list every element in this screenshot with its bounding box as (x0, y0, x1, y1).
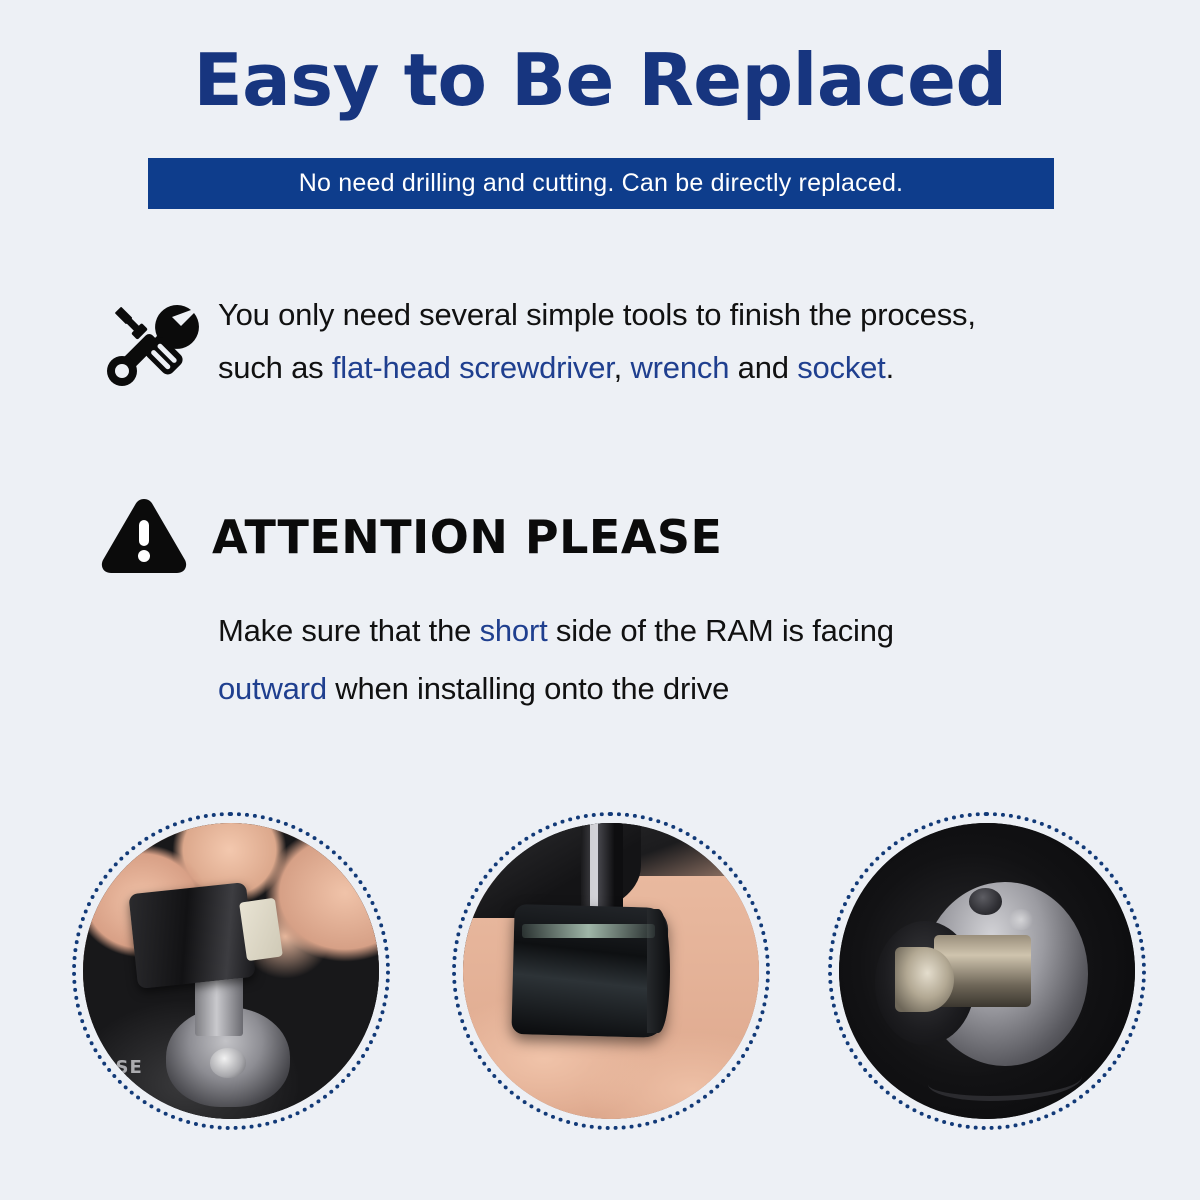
tools-text-line-2: such as flat-head screwdriver, wrench an… (218, 341, 976, 394)
photo-3-bolt (969, 888, 1002, 915)
attention-highlight-short: short (480, 613, 548, 648)
photo-1-bolt (210, 1048, 246, 1078)
warning-triangle-icon (98, 495, 190, 579)
attention-body-line-2: outward when installing onto the drive (218, 660, 1118, 718)
wrench-screwdriver-icon (96, 292, 200, 392)
photo-1-black-cap (129, 882, 257, 989)
tools-text-block: You only need several simple tools to fi… (218, 288, 976, 394)
photo-hand-installing-cap: SE (72, 812, 390, 1130)
tools-line2-sep1: , (614, 350, 631, 385)
photo-2-image (463, 823, 759, 1119)
attention-heading-row: ATTENTION PLEASE (98, 495, 722, 579)
tools-line1-text: You only need several simple tools to fi… (218, 297, 976, 332)
attention-line2-suffix: when installing onto the drive (327, 671, 729, 706)
photo-installed-shaft-assembly (828, 812, 1146, 1130)
attention-line1-suffix: side of the RAM is facing (547, 613, 893, 648)
page-title: Easy to Be Replaced (0, 0, 1200, 116)
tools-highlight-wrench: wrench (631, 350, 730, 385)
photo-1-logo-text: SE (116, 1057, 143, 1078)
attention-heading: ATTENTION PLEASE (212, 510, 722, 564)
attention-line1-prefix: Make sure that the (218, 613, 480, 648)
attention-body: Make sure that the short side of the RAM… (218, 602, 1118, 718)
tools-section: You only need several simple tools to fi… (96, 288, 1106, 394)
tools-line2-suffix: . (886, 350, 894, 385)
photo-3-glint (1008, 909, 1035, 930)
photo-2-cylinder-sheen (522, 924, 655, 939)
tools-text-line-1: You only need several simple tools to fi… (218, 288, 976, 341)
photo-1-image: SE (83, 823, 379, 1119)
attention-body-line-1: Make sure that the short side of the RAM… (218, 602, 1118, 660)
tools-highlight-screwdriver: flat-head screwdriver (332, 350, 614, 385)
photo-3-image (839, 823, 1135, 1119)
photo-2-stem (581, 823, 622, 918)
photo-black-cylinder-in-hand (452, 812, 770, 1130)
tools-line2-prefix: such as (218, 350, 332, 385)
photo-2-stem-highlight (590, 823, 597, 915)
tools-highlight-socket: socket (797, 350, 885, 385)
photo-gallery: SE (0, 812, 1200, 1142)
tools-line2-sep2: and (729, 350, 797, 385)
subtitle-banner: No need drilling and cutting. Can be dir… (148, 158, 1054, 209)
attention-highlight-outward: outward (218, 671, 327, 706)
subtitle-banner-text: No need drilling and cutting. Can be dir… (299, 169, 903, 198)
